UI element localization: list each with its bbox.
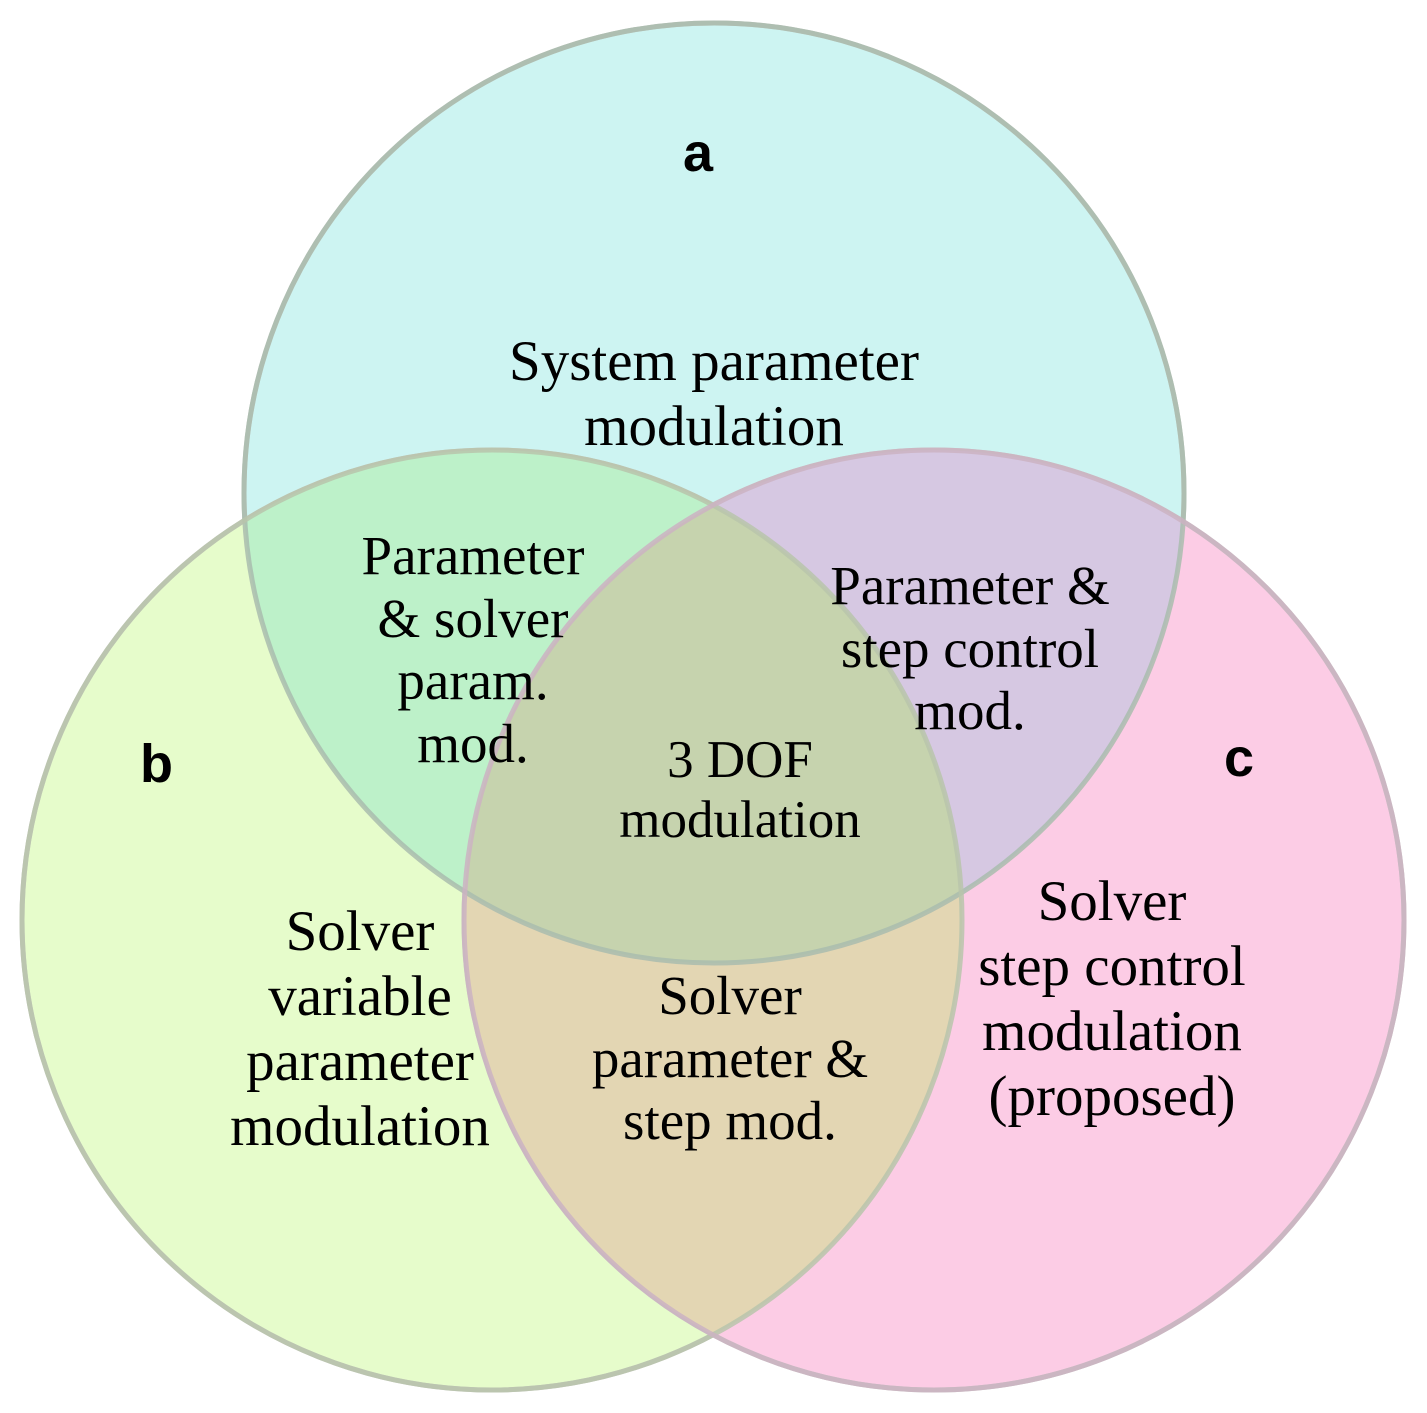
venn-circles-svg: [0, 0, 1427, 1413]
venn-diagram-canvas: a b c System parameter modulation Solver…: [0, 0, 1427, 1413]
